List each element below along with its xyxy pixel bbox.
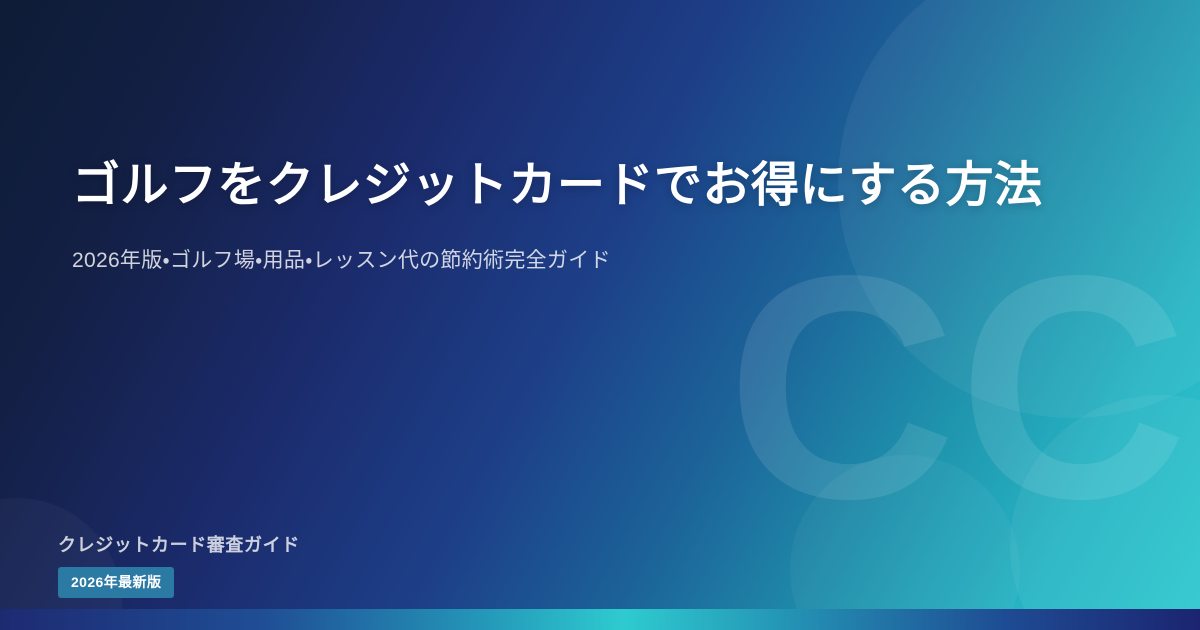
cc-watermark: CC	[727, 258, 1190, 519]
brand-block: クレジットカード審査ガイド 2026年最新版	[58, 531, 300, 598]
bottom-accent-bar	[0, 609, 1200, 630]
ogp-banner: CC ゴルフをクレジットカードでお得にする方法 2026年版・ゴルフ場・用品・レ…	[0, 0, 1200, 630]
status-badge: 2026年最新版	[58, 567, 174, 598]
page-title: ゴルフをクレジットカードでお得にする方法	[72, 158, 1042, 214]
page-subtitle: 2026年版・ゴルフ場・用品・レッスン代の節約術完全ガイド	[72, 245, 611, 277]
brand-name: クレジットカード審査ガイド	[58, 531, 300, 557]
